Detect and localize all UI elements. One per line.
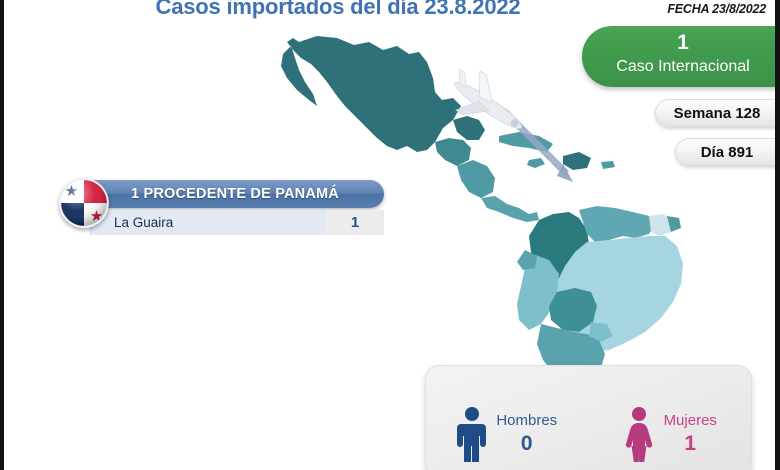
country-costarica-panama [481, 196, 539, 222]
gender-summary-panel: Hombres 0 Mujeres 1 [425, 365, 752, 470]
infographic-canvas: Casos importados del día 23.8.2022 FECHA… [0, 0, 780, 470]
female-label: Mujeres [664, 411, 717, 431]
country-honduras-nicaragua [457, 160, 495, 198]
country-yucatan [453, 116, 485, 140]
female-stat: Mujeres 1 [589, 366, 752, 470]
page-title: Casos importados del día 23.8.2022 [4, 0, 672, 20]
male-count: 0 [496, 431, 557, 457]
female-count: 1 [664, 431, 717, 457]
female-stat-text: Mujeres 1 [664, 411, 717, 457]
male-figure-icon [457, 406, 487, 462]
country-guatemala-belize [435, 138, 471, 166]
island-puertorico [601, 161, 615, 169]
male-label: Hombres [496, 411, 557, 431]
week-pill: Semana 128 [655, 99, 780, 127]
table-row: La Guaira 1 [89, 210, 384, 235]
international-case-label: Caso Internacional [582, 56, 780, 78]
origin-rows: La Guaira 1 [89, 210, 384, 235]
island-hispaniola [563, 152, 591, 170]
island-jamaica [527, 158, 545, 168]
male-stat: Hombres 0 [426, 366, 589, 470]
origin-country-header: 1 PROCEDENTE DE PANAMÁ [89, 180, 384, 208]
panama-flag-icon [59, 178, 109, 228]
international-case-badge: 1 Caso Internacional [582, 26, 780, 87]
international-case-count: 1 [582, 30, 780, 56]
male-stat-text: Hombres 0 [496, 411, 557, 457]
day-pill: Día 891 [675, 138, 780, 166]
country-mexico [281, 36, 461, 152]
row-state-name: La Guaira [89, 210, 326, 235]
row-case-count: 1 [326, 210, 384, 235]
female-figure-icon [623, 406, 655, 462]
fecha-label: FECHA 23/8/2022 [667, 2, 766, 16]
